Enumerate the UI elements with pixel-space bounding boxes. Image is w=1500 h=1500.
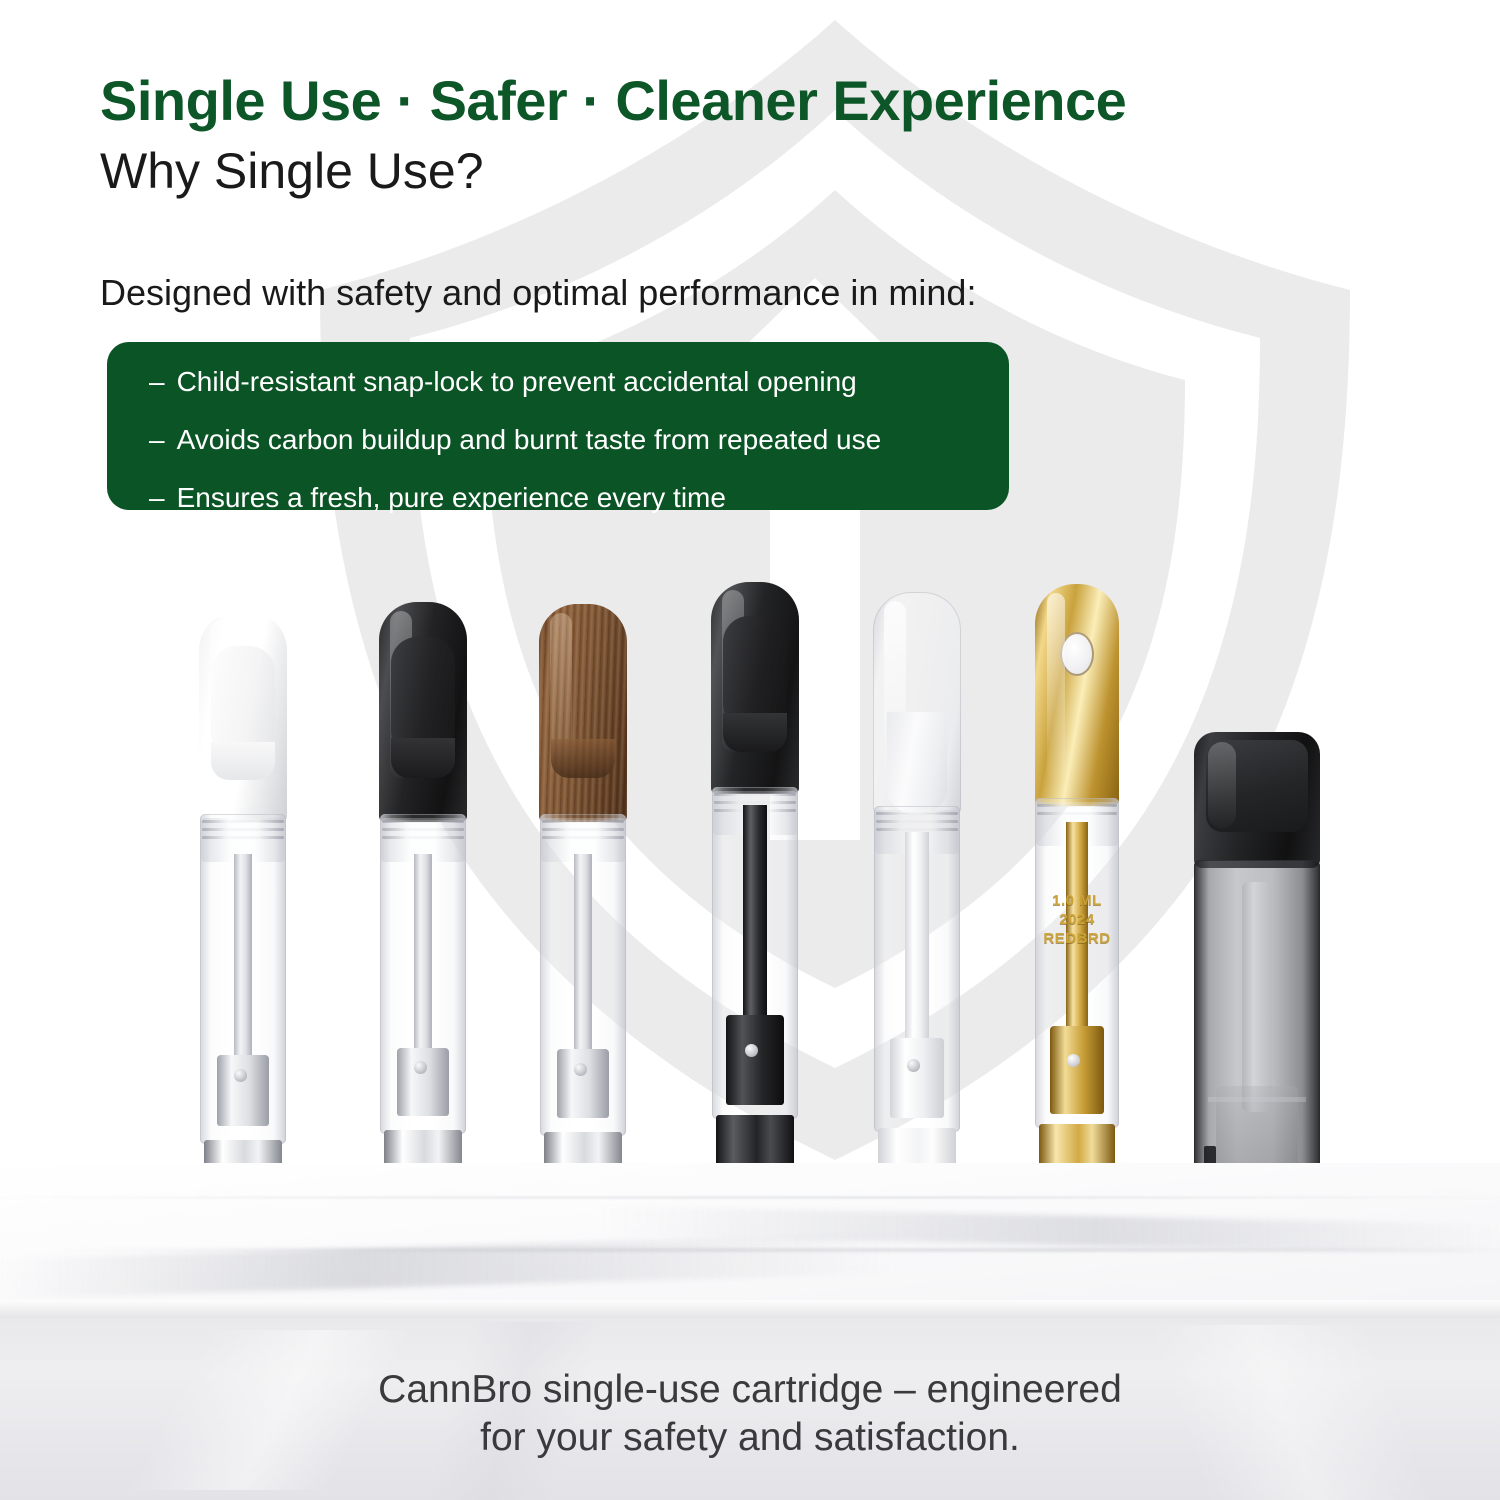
caption-line-1: CannBro single-use cartridge – engineere… <box>0 1366 1500 1414</box>
loop-highlight <box>1047 593 1065 779</box>
mouthpiece-gold-loop <box>1035 584 1119 806</box>
glass-tank: 1.0 ML 2024 REDBRD <box>1035 798 1119 1128</box>
post-base <box>726 1015 784 1105</box>
benefits-panel: – Child-resistant snap-lock to prevent a… <box>107 342 1009 510</box>
keyring-hole <box>1060 632 1094 676</box>
intro-paragraph: Designed with safety and optimal perform… <box>100 272 976 314</box>
dash-bullet: – <box>149 426 165 454</box>
benefit-text: Ensures a fresh, pure experience every t… <box>177 484 726 512</box>
post-base <box>397 1048 449 1116</box>
pod-cap-highlight <box>1208 742 1236 828</box>
post-stem <box>574 854 592 1055</box>
center-post-steel <box>217 854 269 1126</box>
mouthpiece-bevel <box>723 713 786 751</box>
product-clear-white-cartridge[interactable] <box>862 592 972 1232</box>
post-stem <box>414 854 432 1053</box>
product-wood-grain-cartridge[interactable] <box>528 604 638 1232</box>
page-subheading: Why Single Use? <box>100 142 484 200</box>
center-post-ceramic <box>890 832 944 1118</box>
engraving-line-2: 2024 REDBRD <box>1035 911 1119 949</box>
center-post-gold <box>1050 822 1104 1114</box>
glass-tank <box>380 814 466 1134</box>
mouthpiece-bevel <box>211 742 274 780</box>
airflow-dot <box>574 1063 587 1076</box>
post-base <box>890 1038 944 1118</box>
center-post-steel <box>397 854 449 1116</box>
post-base <box>217 1055 269 1126</box>
pod-cap <box>1194 732 1320 868</box>
glass-tank <box>712 787 798 1119</box>
mouthpiece-wood <box>539 604 627 822</box>
mouthpiece-bevel <box>391 738 454 778</box>
dash-bullet: – <box>149 484 165 512</box>
table-top-surface <box>0 1163 1500 1313</box>
dash-bullet: – <box>149 368 165 396</box>
product-gold-keychain-cartridge[interactable]: 1.0 ML 2024 REDBRD <box>1022 584 1132 1232</box>
product-white-ceramic-cartridge[interactable] <box>188 612 298 1232</box>
airflow-dot <box>745 1044 758 1057</box>
product-infographic: Single Use · Safer · Cleaner Experience … <box>0 0 1500 1500</box>
benefit-item: – Child-resistant snap-lock to prevent a… <box>149 368 1009 396</box>
benefit-item: – Ensures a fresh, pure experience every… <box>149 484 1009 512</box>
caption-line-2: for your safety and satisfaction. <box>0 1414 1500 1462</box>
post-stem <box>905 832 929 1044</box>
post-stem <box>234 854 252 1061</box>
post-base <box>1050 1026 1104 1114</box>
mouthpiece-bevel <box>551 739 614 778</box>
glass-tank <box>540 814 626 1136</box>
airflow-dot <box>414 1061 427 1074</box>
page-headline: Single Use · Safer · Cleaner Experience <box>100 68 1126 133</box>
post-stem <box>743 805 767 1021</box>
center-post-black <box>726 805 784 1105</box>
product-black-gloss-cartridge[interactable] <box>368 602 478 1232</box>
tank-rings <box>542 820 624 846</box>
benefit-item: – Avoids carbon buildup and burnt taste … <box>149 426 1009 454</box>
mouthpiece-black <box>379 602 467 822</box>
center-post-steel <box>557 854 609 1118</box>
pod-inner-chimney <box>1242 882 1272 1112</box>
mouthpiece-black <box>711 582 799 794</box>
post-base <box>557 1049 609 1118</box>
footer-caption: CannBro single-use cartridge – engineere… <box>0 1366 1500 1463</box>
benefit-text: Child-resistant snap-lock to prevent acc… <box>177 368 857 396</box>
tank-rings <box>382 820 464 846</box>
benefit-text: Avoids carbon buildup and burnt taste fr… <box>177 426 882 454</box>
pod-inner-band <box>1208 1097 1306 1102</box>
product-all-black-cartridge[interactable] <box>700 582 810 1232</box>
mouthpiece-clear <box>873 592 961 814</box>
tank-rings <box>202 820 284 846</box>
glass-tank <box>874 806 960 1132</box>
mouthpiece-white <box>199 612 287 822</box>
mouthpiece-inner-plug <box>887 712 947 814</box>
engraving-line-1: 1.0 ML <box>1035 892 1119 911</box>
gold-cartridge-engraving: 1.0 ML 2024 REDBRD <box>1035 892 1119 948</box>
product-black-pod-device[interactable] <box>1182 732 1332 1232</box>
glass-tank <box>200 814 286 1144</box>
